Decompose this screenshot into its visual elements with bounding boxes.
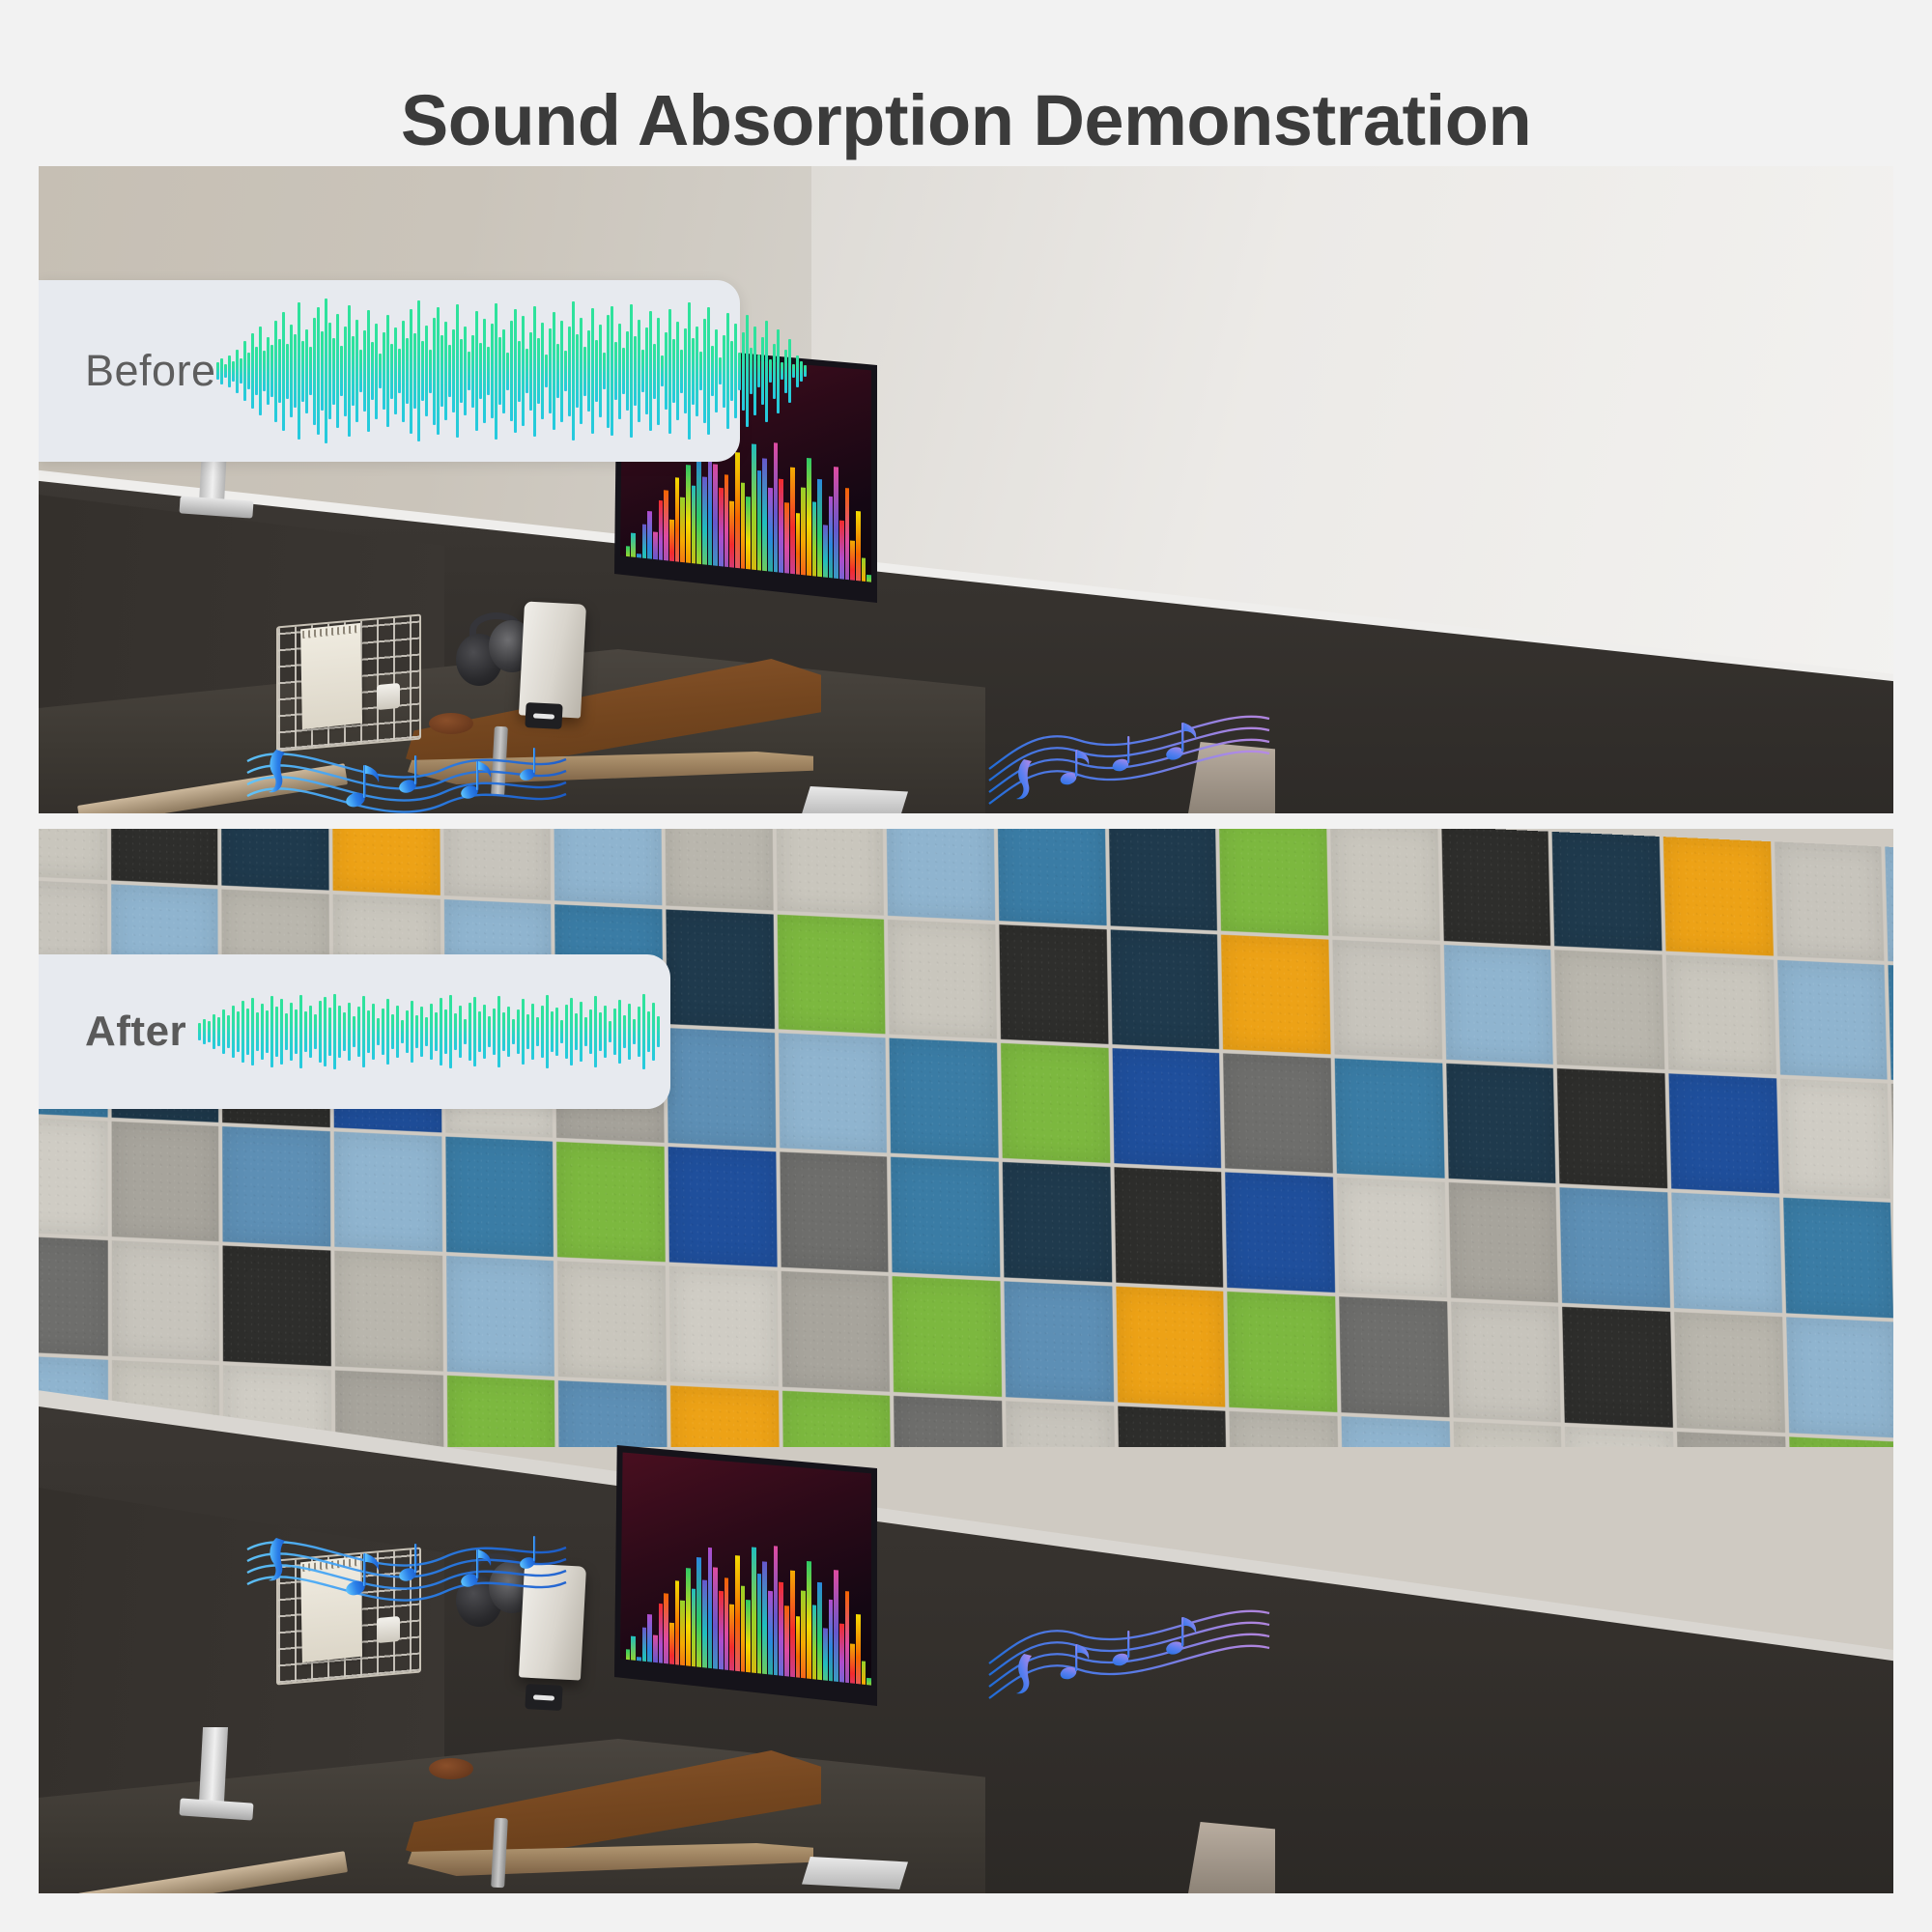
waveform-bar	[661, 355, 664, 386]
acoustic-panel-tile	[1001, 1043, 1110, 1163]
waveform-bar	[224, 364, 227, 378]
waveform-bar	[367, 1010, 370, 1053]
waveform-bar	[313, 318, 316, 425]
after-desktop-speaker	[519, 1563, 586, 1680]
acoustic-panel-tile	[777, 915, 885, 1035]
waveform-bar	[340, 346, 343, 397]
waveform-bar	[213, 1014, 215, 1050]
waveform-bar	[421, 341, 424, 401]
waveform-bar	[413, 333, 416, 409]
after-scene-panel: After	[39, 829, 1893, 1893]
waveform-bar	[452, 329, 455, 412]
acoustic-panel-tile	[443, 829, 552, 900]
spectrum-bar	[647, 512, 652, 591]
waveform-bar	[363, 330, 366, 412]
waveform-bar	[711, 346, 714, 397]
waveform-bar	[332, 338, 335, 405]
eraser-block	[377, 683, 400, 710]
waveform-bar	[638, 1007, 640, 1056]
waveform-bar	[377, 1018, 380, 1045]
waveform-bar	[510, 321, 513, 421]
spectrum-bar	[669, 520, 674, 592]
waveform-bar	[796, 355, 799, 387]
waveform-bar	[680, 350, 683, 393]
acoustic-panel-tile	[1441, 829, 1550, 946]
waveform-bar	[241, 1001, 244, 1062]
waveform-bar	[348, 305, 351, 438]
waveform-bar	[469, 1003, 471, 1062]
waveform-bar	[599, 325, 602, 417]
waveform-bar	[575, 1013, 578, 1050]
waveform-bar	[564, 351, 567, 391]
waveform-bar	[382, 1009, 384, 1055]
waveform-bar	[266, 1010, 269, 1053]
waveform-bar	[468, 352, 470, 391]
waveform-bar	[792, 364, 795, 378]
waveform-bar	[604, 1006, 607, 1059]
waveform-bar	[353, 1016, 355, 1048]
waveform-bar	[217, 1017, 220, 1045]
waveform-bar	[633, 1019, 636, 1045]
waveform-bar	[355, 320, 358, 423]
waveform-bar	[274, 321, 277, 422]
acoustic-panel-tile	[776, 829, 884, 916]
acoustic-panel-tile	[1780, 1079, 1890, 1199]
before-waveform	[216, 280, 807, 462]
waveform-bar	[295, 1009, 298, 1054]
after-waveform-card[interactable]: After	[39, 954, 670, 1109]
waveform-bar	[657, 318, 660, 425]
waveform-bar	[471, 335, 474, 408]
waveform-bar	[227, 1015, 230, 1048]
acoustic-panel-wall	[39, 829, 1893, 1447]
waveform-bar	[618, 1000, 621, 1064]
acoustic-panel-tile	[111, 829, 218, 885]
acoustic-panel-tile	[1663, 837, 1774, 955]
acoustic-panel-tile	[332, 829, 440, 895]
waveform-bar	[243, 341, 246, 401]
waveform-bar	[216, 362, 219, 380]
waveform-bar	[497, 996, 500, 1067]
acoustic-panel-tile	[334, 1251, 442, 1372]
waveform-bar	[483, 1005, 486, 1059]
waveform-bar	[488, 1016, 491, 1048]
after-right-desk-object	[1188, 1822, 1275, 1893]
waveform-bar	[565, 1005, 568, 1059]
right-desk-object	[1188, 742, 1275, 813]
acoustic-panel-tile	[1116, 1287, 1226, 1407]
acoustic-panel-tile	[1443, 945, 1553, 1065]
acoustic-panel-tile	[1223, 1053, 1332, 1173]
acoustic-panel-tile	[1886, 847, 1893, 966]
waveform-bar	[372, 1004, 375, 1061]
waveform-bar	[298, 302, 300, 440]
waveform-bar	[672, 339, 675, 403]
waveform-bar	[430, 1004, 433, 1059]
waveform-bar	[531, 1004, 534, 1061]
after-speaker-badge	[525, 1684, 562, 1711]
acoustic-panel-tile	[890, 1038, 999, 1158]
waveform-bar	[765, 321, 768, 422]
waveform-bar	[549, 328, 552, 414]
waveform-bar	[784, 350, 787, 393]
waveform-bar	[707, 307, 710, 435]
waveform-bar	[344, 327, 347, 416]
after-waveform-bars	[198, 954, 660, 1109]
waveform-bar	[537, 338, 540, 404]
acoustic-panel-tile	[1335, 1059, 1445, 1179]
waveform-bar	[305, 329, 308, 413]
waveform-bar	[328, 323, 331, 420]
acoustic-panel-tile	[1668, 1073, 1778, 1193]
waveform-bar	[491, 324, 494, 418]
waveform-bar	[208, 1021, 211, 1042]
panel-separator	[39, 813, 1893, 829]
waveform-bar	[526, 349, 528, 394]
waveform-bar	[603, 353, 606, 389]
wire-document-holder	[276, 620, 421, 746]
waveform-bar	[638, 320, 640, 423]
waveform-bar	[263, 351, 266, 391]
acoustic-panel-tile	[446, 1256, 554, 1377]
acoustic-panel-tile	[111, 1122, 219, 1241]
acoustic-panel-tile	[554, 829, 663, 905]
waveform-bar	[473, 997, 476, 1066]
waveform-bar	[777, 329, 780, 413]
waveform-bar	[568, 327, 571, 416]
waveform-bar	[394, 327, 397, 414]
waveform-bar	[317, 307, 320, 435]
waveform-bar	[493, 1009, 496, 1056]
waveform-bar	[371, 342, 374, 400]
waveform-bar	[594, 996, 597, 1066]
waveform-bar	[328, 1008, 331, 1056]
speaker-badge	[525, 702, 562, 729]
spectrum-bar	[669, 1623, 674, 1695]
acoustic-panel-tile	[666, 909, 774, 1029]
waveform-bar	[479, 343, 482, 400]
before-scene-panel: Before	[39, 166, 1893, 813]
desk-coaster	[429, 713, 473, 734]
waveform-bar	[270, 345, 273, 397]
waveform-bar	[580, 318, 582, 424]
waveform-bar	[314, 1014, 317, 1048]
waveform-bar	[607, 315, 610, 428]
acoustic-panel-tile	[894, 1396, 1003, 1447]
waveform-bar	[626, 331, 629, 412]
waveform-bar	[440, 335, 443, 407]
waveform-bar	[247, 353, 250, 389]
waveform-bar	[336, 314, 339, 429]
waveform-bar	[502, 1012, 505, 1051]
waveform-bar	[270, 996, 273, 1066]
waveform-bar	[555, 1008, 558, 1056]
waveform-bar	[642, 994, 645, 1069]
waveform-bar	[396, 1006, 399, 1059]
waveform-bar	[280, 999, 283, 1064]
waveform-bar	[286, 344, 289, 399]
acoustic-panel-tile	[1677, 1432, 1788, 1447]
waveform-bar	[367, 310, 370, 432]
waveform-bar	[232, 1006, 235, 1058]
waveform-bar	[570, 998, 573, 1065]
acoustic-panel-tile	[1003, 1162, 1112, 1283]
waveform-bar	[645, 327, 648, 414]
waveform-bar	[454, 1013, 457, 1050]
acoustic-panel-tile	[668, 1147, 778, 1266]
waveform-bar	[495, 303, 497, 440]
acoustic-panel-tile	[1666, 955, 1776, 1075]
waveform-bar	[719, 357, 722, 385]
waveform-bar	[449, 995, 452, 1069]
acoustic-panel-tile	[1446, 1064, 1556, 1183]
waveform-bar	[379, 354, 382, 388]
waveform-bar	[551, 1011, 554, 1051]
waveform-bar	[804, 365, 807, 377]
acoustic-panel-tile	[888, 920, 997, 1039]
waveform-bar	[734, 324, 737, 418]
waveform-bar	[512, 1019, 515, 1044]
acoustic-panel-tile	[1786, 1317, 1893, 1437]
acoustic-panel-tile	[665, 829, 773, 910]
before-waveform-bars	[216, 280, 807, 462]
waveform-bar	[649, 311, 652, 432]
acoustic-panel-tile	[1226, 1172, 1336, 1293]
acoustic-panel-tile	[999, 924, 1108, 1044]
waveform-bar	[576, 334, 579, 409]
acoustic-panel-tile	[669, 1266, 779, 1387]
waveform-bar	[362, 996, 365, 1067]
page-title: Sound Absorption Demonstration	[0, 85, 1932, 156]
waveform-bar	[220, 358, 223, 384]
waveform-bar	[622, 348, 625, 394]
waveform-bar	[628, 1004, 631, 1059]
waveform-bar	[275, 1007, 278, 1056]
waveform-bar	[444, 322, 447, 420]
after-eraser-block	[377, 1616, 400, 1643]
waveform-bar	[522, 316, 525, 426]
waveform-bar	[440, 998, 442, 1065]
acoustic-panel-tile	[558, 1380, 668, 1447]
acoustic-panel-tile	[1221, 935, 1330, 1055]
waveform-bar	[611, 306, 613, 436]
waveform-bar	[420, 1007, 423, 1057]
acoustic-panel-tile	[1112, 1048, 1221, 1168]
waveform-bar	[435, 1012, 438, 1051]
acoustic-panel-tile	[1891, 1084, 1893, 1204]
acoustic-panel-tile	[1108, 829, 1217, 930]
waveform-bar	[236, 350, 239, 393]
waveform-bar	[359, 350, 362, 392]
waveform-bar	[475, 311, 478, 432]
acoustic-panel-tile	[445, 1137, 554, 1257]
waveform-bar	[630, 304, 633, 438]
waveform-bar	[401, 1020, 404, 1043]
waveform-bar	[321, 331, 324, 412]
waveform-bar	[429, 350, 432, 393]
waveform-bar	[448, 345, 451, 397]
waveform-bar	[459, 1006, 462, 1058]
waveform-bar	[773, 344, 776, 399]
acoustic-panel-tile	[1006, 1401, 1116, 1447]
waveform-bar	[668, 309, 671, 434]
acoustic-panel-tile	[1674, 1312, 1785, 1433]
acoustic-panel-tile	[1555, 950, 1665, 1069]
acoustic-panel-tile	[39, 1117, 107, 1236]
acoustic-panel-tile	[1330, 829, 1439, 941]
acoustic-panel-tile	[1342, 1416, 1452, 1447]
acoustic-panel-tile	[780, 1151, 889, 1271]
waveform-bar	[232, 361, 235, 382]
waveform-bar	[750, 348, 753, 394]
waveform-bar	[583, 347, 586, 396]
acoustic-panel-tile	[998, 829, 1107, 925]
acoustic-panel-tile	[668, 1028, 776, 1148]
waveform-bar	[676, 322, 679, 420]
waveform-bar	[723, 335, 725, 408]
acoustic-panel-tile	[1671, 1192, 1781, 1313]
waveform-bar	[444, 1009, 447, 1054]
waveform-bar	[623, 1015, 626, 1048]
waveform-bar	[402, 321, 405, 422]
waveform-bar	[240, 358, 242, 384]
waveform-bar	[541, 323, 544, 420]
acoustic-panel-tile	[1110, 929, 1219, 1049]
waveform-bar	[386, 999, 389, 1065]
waveform-bar	[417, 300, 420, 441]
sound-absorption-demo-page: Sound Absorption Demonstration	[0, 0, 1932, 1932]
waveform-bar	[757, 355, 760, 388]
spectrum-bar	[642, 525, 647, 590]
acoustic-panel-tile	[1565, 1427, 1676, 1447]
waveform-bar	[591, 308, 594, 435]
acoustic-panel-tile	[111, 1240, 219, 1361]
waveform-bar	[634, 336, 637, 406]
waveform-bar	[237, 1011, 240, 1051]
acoustic-panel-tile	[1448, 1182, 1558, 1303]
waveform-bar	[502, 329, 505, 413]
acoustic-panel-tile	[779, 1033, 888, 1152]
acoustic-panel-tile	[1219, 829, 1328, 936]
waveform-bar	[425, 1017, 428, 1045]
waveform-bar	[343, 1012, 346, 1051]
acoustic-panel-tile	[1453, 1421, 1563, 1447]
after-wire-document-holder	[276, 1553, 421, 1679]
waveform-bar	[546, 995, 549, 1068]
after-curved-monitor	[614, 1439, 877, 1729]
acoustic-panel-tile	[1889, 965, 1893, 1085]
acoustic-panel-grid	[39, 829, 1893, 1447]
waveform-bar	[483, 319, 486, 423]
waveform-bar	[522, 999, 525, 1064]
waveform-bar	[246, 1009, 249, 1056]
acoustic-panel-tile	[670, 1385, 780, 1447]
waveform-bar	[375, 324, 378, 419]
waveform-bar	[526, 1014, 529, 1048]
acoustic-panel-tile	[447, 1376, 556, 1447]
waveform-bar	[319, 1001, 322, 1064]
desktop-speaker	[519, 601, 586, 718]
waveform-bar	[410, 309, 412, 434]
before-waveform-card[interactable]: Before	[39, 280, 740, 462]
acoustic-panel-tile	[221, 829, 328, 891]
waveform-bar	[261, 1004, 264, 1059]
spiral-notepad	[300, 623, 362, 729]
waveform-bar	[560, 1020, 563, 1042]
acoustic-panel-tile	[1789, 1436, 1893, 1447]
waveform-bar	[589, 1009, 592, 1054]
waveform-bar	[609, 1021, 611, 1042]
waveform-bar	[411, 1001, 413, 1062]
waveform-bar	[267, 337, 270, 406]
acoustic-panel-tile	[1228, 1292, 1338, 1412]
acoustic-panel-tile	[1337, 1178, 1447, 1298]
waveform-bar	[290, 1003, 293, 1061]
waveform-bar	[278, 339, 281, 403]
waveform-bar	[406, 338, 409, 404]
waveform-bar	[545, 355, 548, 388]
waveform-bar	[506, 353, 509, 390]
acoustic-panel-tile	[1118, 1406, 1228, 1447]
waveform-bar	[391, 1014, 394, 1050]
waveform-bar	[498, 337, 501, 406]
waveform-bar	[309, 1006, 312, 1058]
waveform-bar	[415, 1015, 418, 1048]
waveform-bar	[203, 1019, 206, 1045]
waveform-bar	[699, 352, 702, 391]
waveform-bar	[599, 1012, 602, 1051]
waveform-bar	[595, 340, 598, 403]
acoustic-panel-tile	[557, 1261, 667, 1381]
waveform-bar	[301, 341, 304, 402]
acoustic-panel-tile	[1563, 1307, 1673, 1428]
waveform-bar	[460, 339, 463, 403]
waveform-bar	[357, 1007, 360, 1056]
waveform-bar	[386, 315, 389, 427]
waveform-bar	[533, 306, 536, 437]
waveform-bar	[738, 353, 741, 390]
waveform-bar	[696, 327, 698, 416]
waveform-bar	[553, 312, 555, 430]
waveform-bar	[259, 327, 262, 415]
waveform-bar	[251, 333, 254, 409]
waveform-bar	[324, 997, 327, 1066]
waveform-bar	[572, 301, 575, 440]
waveform-bar	[536, 1017, 539, 1046]
waveform-bar	[726, 313, 729, 429]
acoustic-panel-tile	[1451, 1302, 1561, 1423]
waveform-bar	[688, 302, 691, 440]
waveform-bar	[294, 334, 297, 409]
waveform-bar	[256, 1012, 259, 1051]
waveform-bar	[514, 309, 517, 433]
waveform-bar	[618, 324, 621, 419]
waveform-bar	[541, 1006, 544, 1058]
acoustic-panel-tile	[887, 829, 995, 921]
waveform-bar	[338, 1006, 341, 1059]
waveform-bar	[580, 1002, 582, 1062]
after-spiral-notepad	[300, 1556, 362, 1662]
waveform-bar	[299, 995, 302, 1068]
waveform-bar	[282, 312, 285, 431]
waveform-bar	[730, 341, 733, 401]
acoustic-panel-tile	[39, 1236, 108, 1356]
waveform-bar	[800, 361, 803, 382]
acoustic-panel-tile	[1775, 841, 1885, 960]
waveform-bar	[255, 347, 258, 395]
acoustic-panel-tile	[1114, 1167, 1223, 1288]
after-label: After	[85, 1008, 186, 1056]
